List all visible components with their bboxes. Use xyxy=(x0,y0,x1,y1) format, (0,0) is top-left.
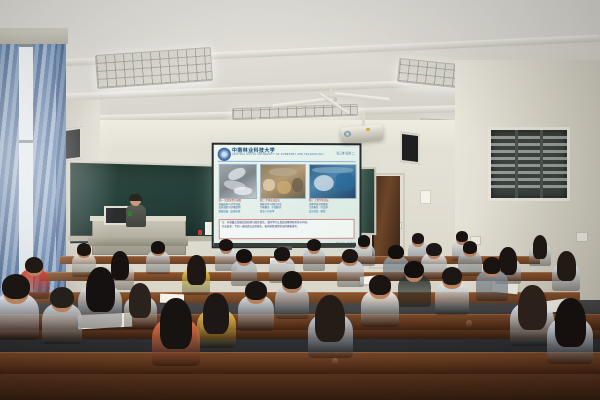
student-hair xyxy=(50,287,74,308)
student-hair xyxy=(160,298,192,348)
student-hair xyxy=(557,251,576,281)
student xyxy=(197,294,236,356)
chalk-piece xyxy=(198,230,202,235)
student xyxy=(275,272,310,327)
student-hair xyxy=(369,275,392,295)
student xyxy=(398,262,431,315)
slide-header-rule xyxy=(218,161,356,162)
student-hair xyxy=(342,249,358,263)
wall-outlet xyxy=(576,232,588,242)
student xyxy=(547,300,594,374)
student xyxy=(0,276,39,350)
window-curtain xyxy=(56,28,66,328)
student-hair xyxy=(555,298,586,347)
slide-header: 中南林业科技大学 CENTRAL SOUTH UNIVERSITY OF FOR… xyxy=(218,148,356,161)
wall-notice xyxy=(420,190,431,204)
student-hair xyxy=(151,241,165,253)
student-hair xyxy=(129,283,151,318)
presentation-slide: 中南林业科技大学 CENTRAL SOUTH UNIVERSITY OF FOR… xyxy=(214,145,360,247)
slide-panel-diagram xyxy=(219,164,257,199)
student xyxy=(146,242,169,279)
student-hair xyxy=(518,285,547,331)
curtain-valance xyxy=(0,28,68,44)
student xyxy=(435,268,470,323)
slide-caption: 图二 学术交流会议 国际合作与项目讨论 专家报告 · 小组研讨 参会人员名单 xyxy=(260,199,304,213)
student xyxy=(152,300,200,377)
student-hair xyxy=(282,271,303,289)
slide-panel-conference-photo xyxy=(309,164,357,199)
student-hair xyxy=(203,293,229,334)
student-hair xyxy=(426,243,441,256)
student xyxy=(308,296,353,368)
lecturer xyxy=(126,195,146,225)
student-hair xyxy=(388,245,403,259)
classroom-photo: 中南林业科技大学 CENTRAL SOUTH UNIVERSITY OF FOR… xyxy=(0,0,600,400)
student xyxy=(303,240,326,276)
student-hair xyxy=(533,235,548,258)
projection-screen: 中南林业科技大学 CENTRAL SOUTH UNIVERSITY OF FOR… xyxy=(212,143,362,249)
student xyxy=(337,250,364,293)
student-hair xyxy=(245,281,267,300)
ceiling-fan xyxy=(272,88,392,116)
student-hair xyxy=(315,295,345,342)
bench-seat-rail xyxy=(0,374,600,400)
louvered-window xyxy=(488,127,570,201)
slide-panel-meeting-photo xyxy=(260,164,306,199)
student xyxy=(78,268,122,338)
slide-note-box: 注：本章重点掌握实验原理与操作规范，请同学们认真阅读教材相关章节内容。 作业要求… xyxy=(219,219,355,239)
student-hair xyxy=(86,267,115,313)
student-hair xyxy=(236,249,252,263)
podium-desk xyxy=(88,236,188,246)
student-hair xyxy=(358,235,371,246)
student-hair xyxy=(274,247,289,260)
projector-indicator-icon xyxy=(366,128,370,131)
student-hair xyxy=(463,241,478,254)
student-hair xyxy=(25,257,43,273)
student xyxy=(529,236,551,272)
student xyxy=(476,258,508,308)
student-hair xyxy=(412,233,425,244)
slide-caption: 图三 大型学术论坛 全体代表合影留念 主旨报告 · 分会场 会议总结 · 展望 xyxy=(309,199,355,213)
student-hair xyxy=(77,243,91,256)
student-hair xyxy=(404,261,424,278)
student xyxy=(42,288,83,353)
student-hair xyxy=(187,255,206,285)
slide-caption: 图一 实验装置示意图 机械结构与力学分析 实验流程与步骤说明 数据采集 · 结果… xyxy=(219,199,255,213)
student-hair xyxy=(483,257,502,274)
slide-header-right: 第三章 实验 二 xyxy=(336,151,354,155)
student xyxy=(238,282,274,340)
student xyxy=(552,252,581,298)
university-seal-icon xyxy=(218,148,231,161)
student-hair xyxy=(307,239,321,251)
student xyxy=(361,276,399,336)
student-hair xyxy=(442,267,463,285)
university-subtitle: CENTRAL SOUTH UNIVERSITY OF FORESTRY AND… xyxy=(232,153,324,156)
wall-speaker xyxy=(400,132,420,164)
student-hair xyxy=(2,274,30,299)
